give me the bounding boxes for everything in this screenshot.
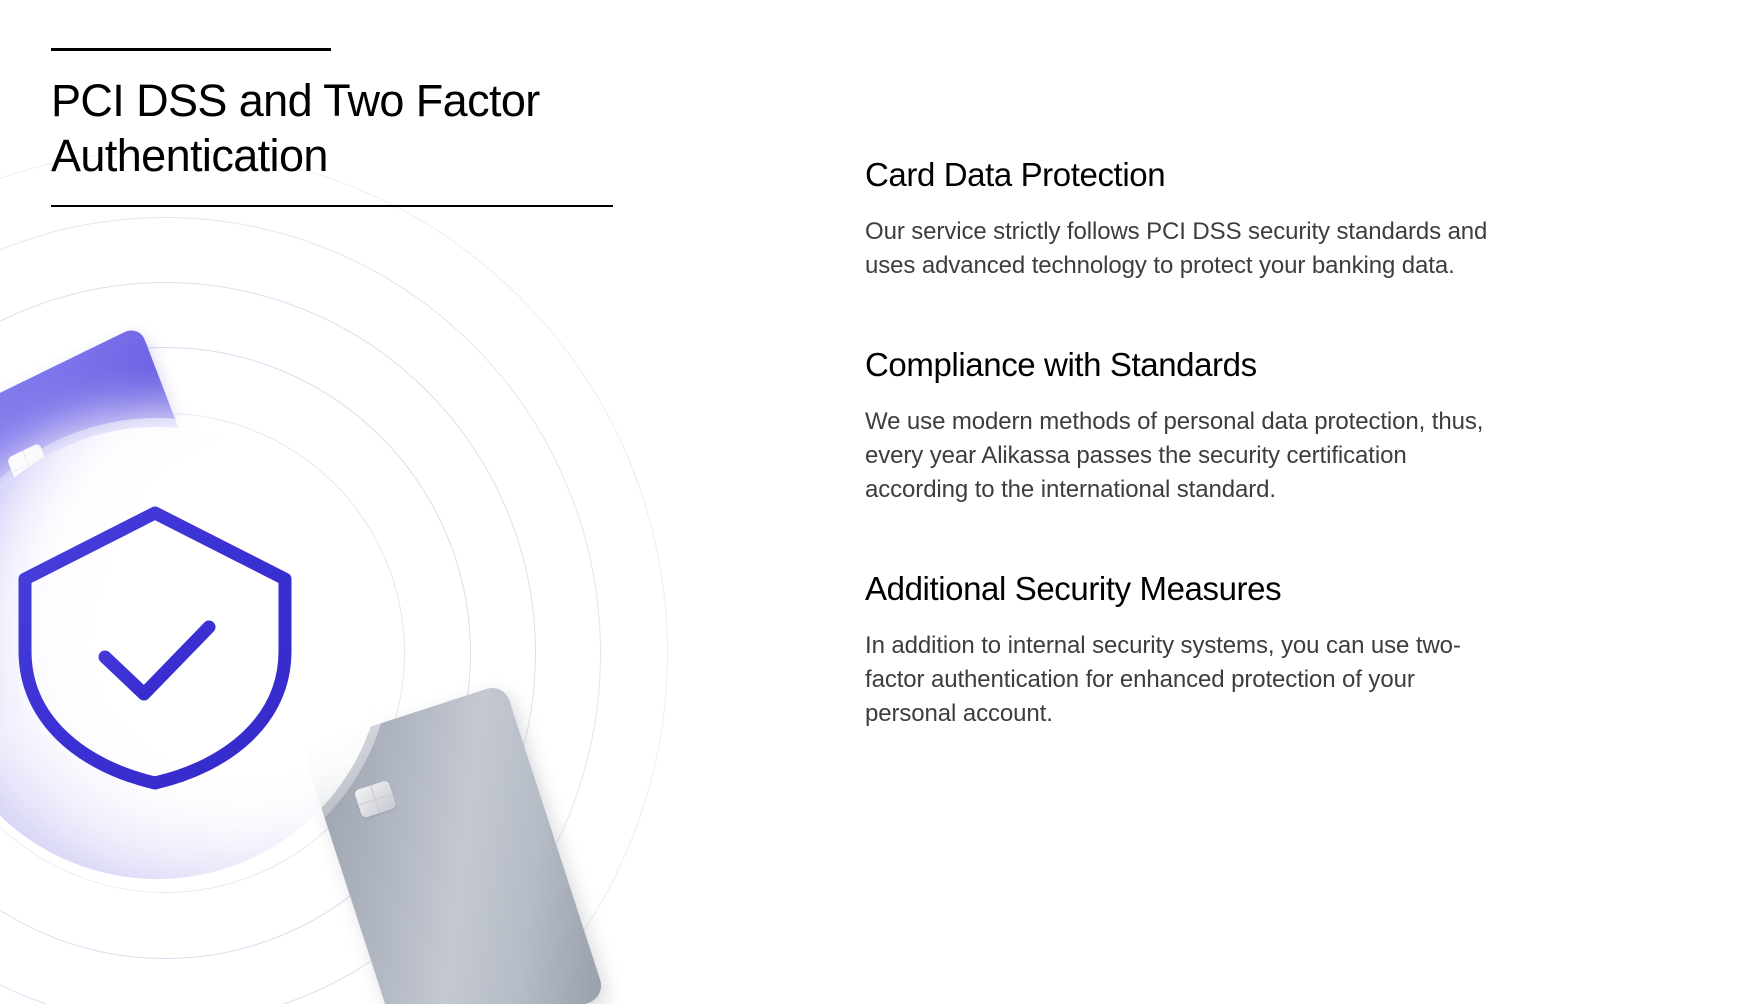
section-heading: Compliance with Standards: [865, 345, 1545, 385]
title-block: PCI DSS and Two Factor Authentication: [51, 48, 651, 207]
section-compliance-with-standards: Compliance with Standards We use modern …: [865, 345, 1545, 507]
section-body: Our service strictly follows PCI DSS sec…: [865, 215, 1490, 283]
section-heading: Card Data Protection: [865, 155, 1545, 195]
section-card-data-protection: Card Data Protection Our service strictl…: [865, 155, 1545, 283]
right-column: Card Data Protection Our service strictl…: [865, 155, 1545, 731]
title-rule-top: [51, 48, 331, 51]
page-title: PCI DSS and Two Factor Authentication: [51, 73, 591, 183]
section-additional-security-measures: Additional Security Measures In addition…: [865, 569, 1545, 731]
pci-dss-security-illustration: [0, 148, 670, 1004]
section-body: In addition to internal security systems…: [865, 629, 1490, 731]
slide-root: PCI DSS and Two Factor Authentication: [0, 0, 1740, 1004]
title-rule-bottom: [51, 205, 613, 207]
shield-check-icon: [0, 475, 325, 815]
left-column: PCI DSS and Two Factor Authentication: [0, 0, 860, 1004]
section-heading: Additional Security Measures: [865, 569, 1545, 609]
emv-chip-icon: [354, 780, 397, 819]
section-body: We use modern methods of personal data p…: [865, 405, 1490, 507]
